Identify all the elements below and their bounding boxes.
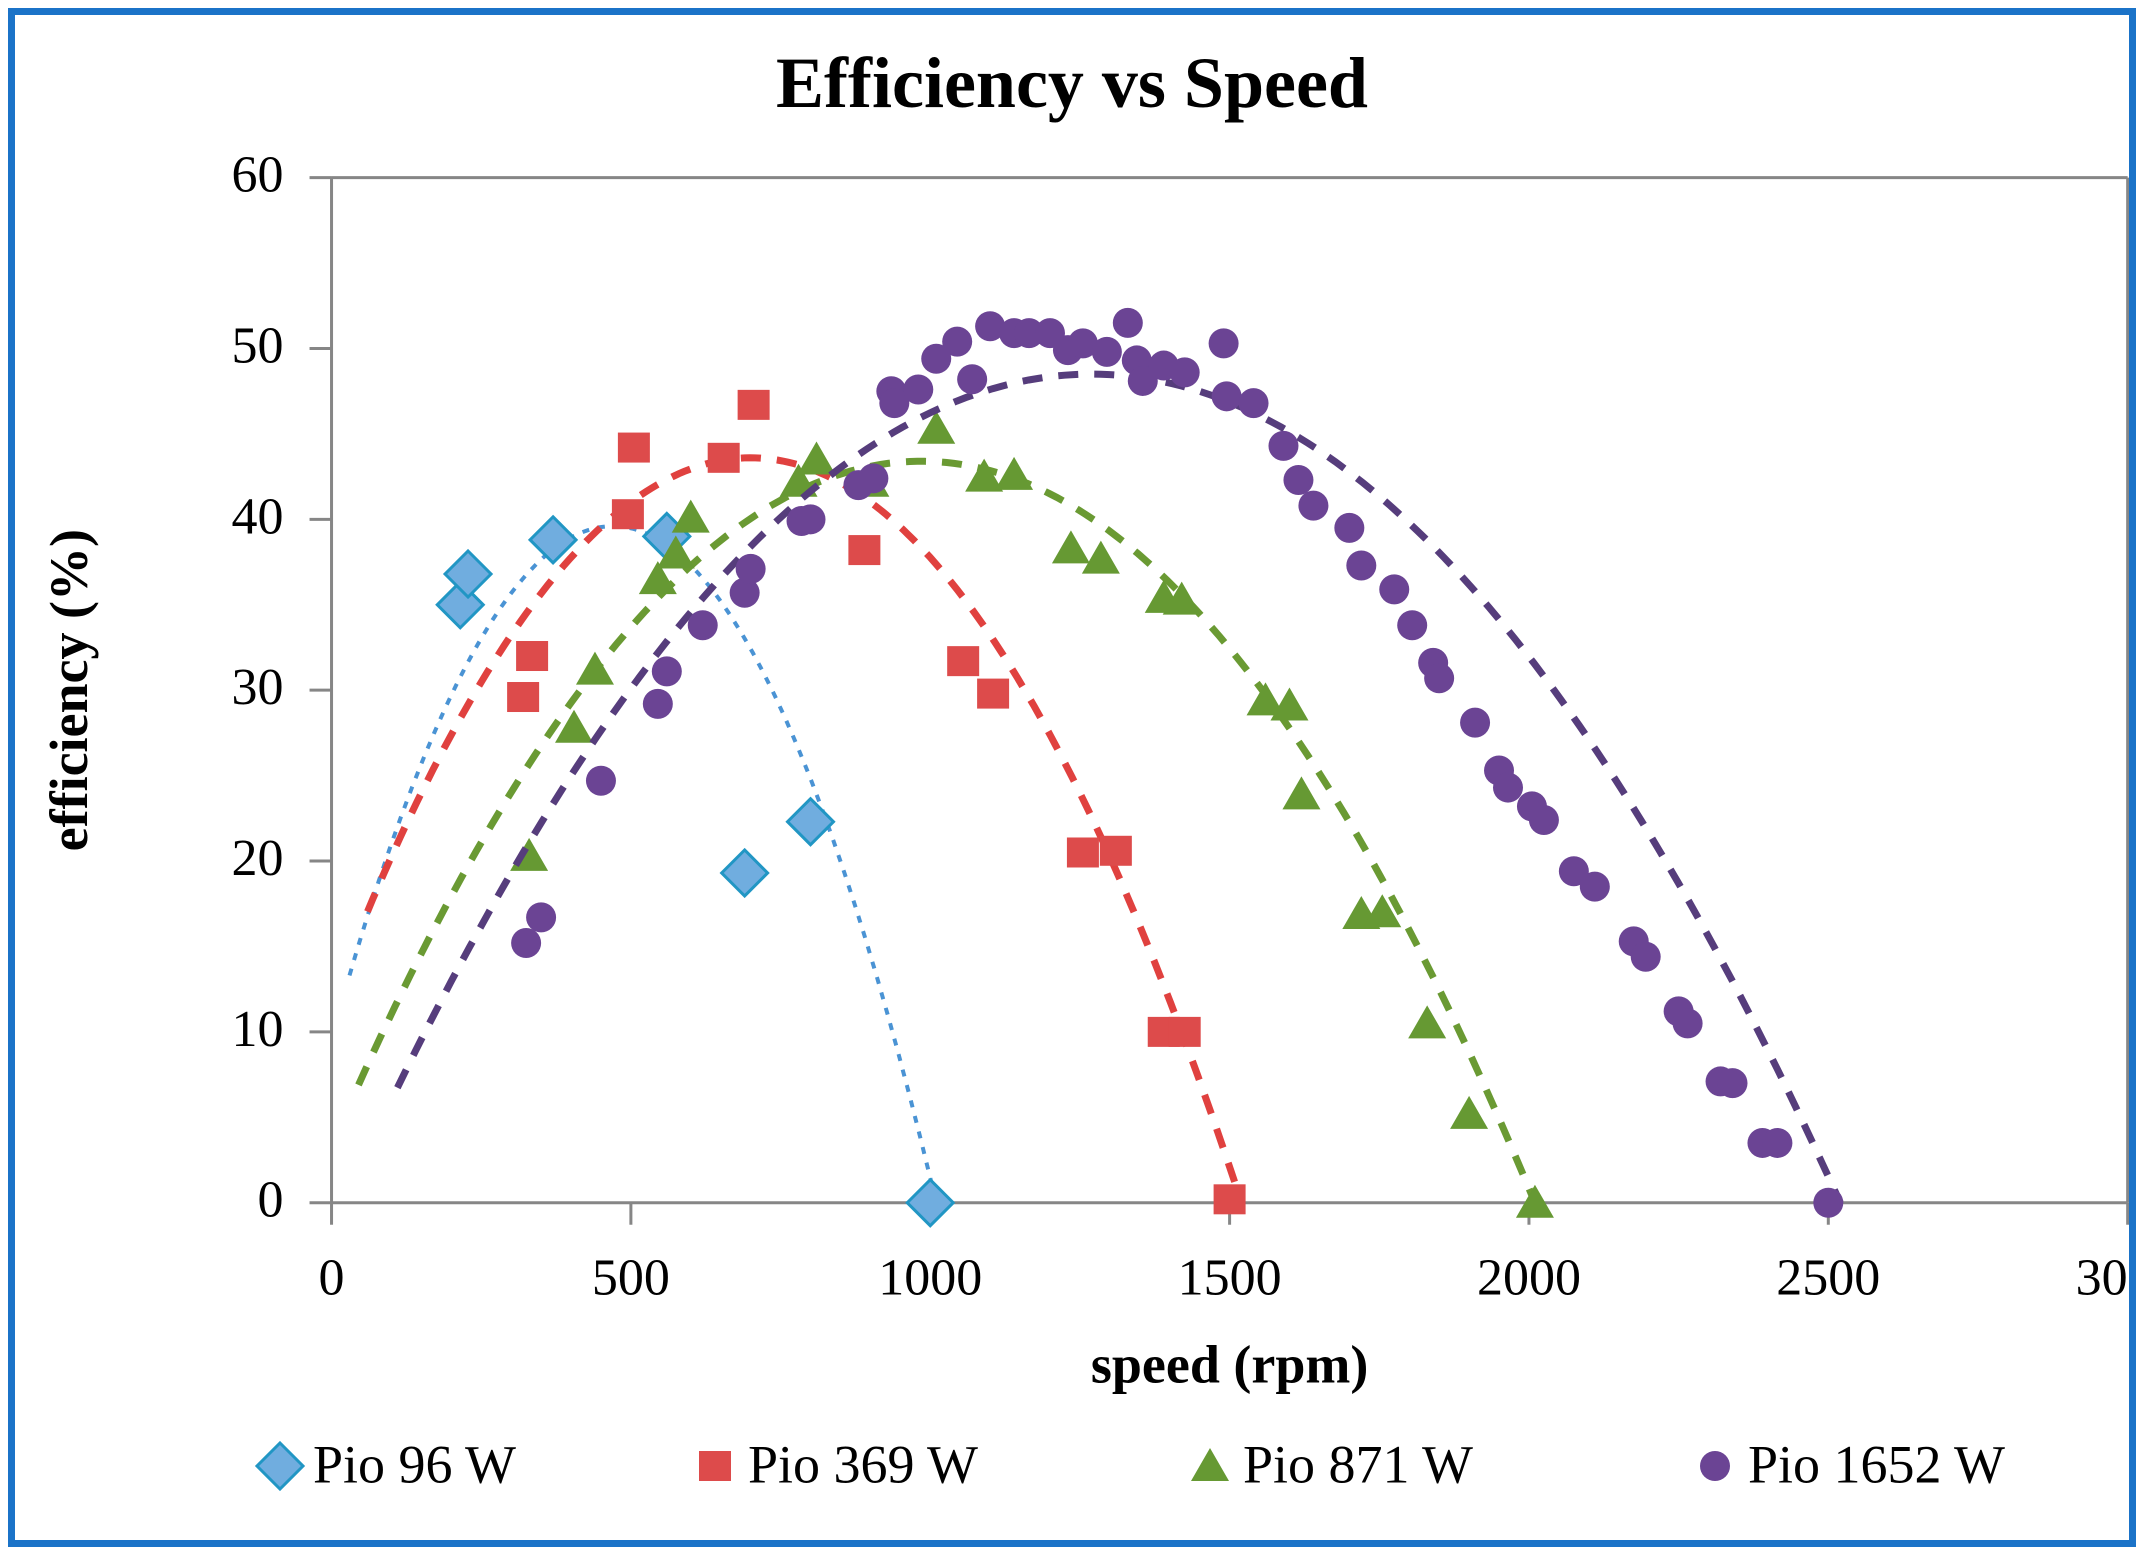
chart-title: Efficiency vs Speed	[776, 43, 1368, 123]
data-point-circle	[1397, 610, 1427, 640]
x-tick-label: 3000	[2076, 1250, 2129, 1307]
legend-label-0: Pio 96 W	[313, 1434, 516, 1494]
data-point-triangle	[1191, 1448, 1229, 1481]
data-point-circle	[1493, 773, 1523, 803]
data-point-diamond	[788, 799, 834, 845]
chart-canvas: Efficiency vs Speed010203040506005001000…	[15, 15, 2129, 1540]
data-point-circle	[858, 463, 888, 493]
data-point-triangle	[1052, 530, 1090, 563]
y-axis-ticks: 0102030405060	[232, 147, 332, 1229]
chart-svg: Efficiency vs Speed010203040506005001000…	[15, 15, 2129, 1540]
y-axis-title: efficiency (%)	[39, 529, 99, 851]
data-point-square	[738, 390, 770, 420]
data-point-triangle	[576, 652, 614, 685]
data-point-circle	[586, 766, 616, 796]
data-point-circle	[1113, 308, 1143, 338]
data-point-circle	[1346, 550, 1376, 580]
data-point-circle	[1268, 431, 1298, 461]
data-point-circle	[1334, 513, 1364, 543]
legend-item-3[interactable]: Pio 1652 W	[1700, 1434, 2005, 1494]
data-point-circle	[957, 364, 987, 394]
y-tick-label: 20	[232, 830, 284, 887]
y-tick-label: 0	[258, 1172, 284, 1229]
data-point-circle	[1762, 1128, 1792, 1158]
data-point-circle	[1673, 1008, 1703, 1038]
data-point-circle	[1529, 805, 1559, 835]
data-point-circle	[1631, 942, 1661, 972]
data-point-triangle	[1450, 1096, 1488, 1129]
legend-label-1: Pio 369 W	[748, 1434, 978, 1494]
x-tick-label: 0	[319, 1250, 345, 1307]
data-point-circle	[1580, 872, 1610, 902]
legend-label-3: Pio 1652 W	[1748, 1434, 2005, 1494]
data-point-circle	[1718, 1068, 1748, 1098]
data-point-circle	[796, 504, 826, 534]
data-point-triangle	[510, 838, 548, 871]
series-3	[397, 308, 1843, 1218]
data-point-triangle	[1282, 776, 1320, 809]
data-point-circle	[1239, 388, 1269, 418]
data-point-circle	[688, 610, 718, 640]
data-point-triangle	[1408, 1005, 1446, 1038]
legend-item-2[interactable]: Pio 871 W	[1191, 1434, 1473, 1494]
data-point-diamond	[257, 1443, 303, 1489]
data-point-circle	[1212, 381, 1242, 411]
x-tick-label: 2500	[1776, 1250, 1880, 1307]
data-point-square	[516, 641, 548, 671]
data-point-circle	[1283, 465, 1313, 495]
trendline-0	[350, 526, 937, 1202]
data-point-circle	[736, 554, 766, 584]
data-point-circle	[643, 689, 673, 719]
x-axis-ticks: 050010001500200025003000	[319, 1203, 2129, 1307]
x-tick-label: 500	[592, 1250, 670, 1307]
data-point-triangle	[1082, 541, 1120, 574]
data-point-square	[699, 1451, 731, 1481]
y-tick-label: 60	[232, 147, 284, 204]
y-tick-label: 10	[232, 1001, 284, 1058]
data-point-triangle	[672, 500, 710, 533]
legend-item-0[interactable]: Pio 96 W	[257, 1434, 516, 1494]
data-point-circle	[942, 327, 972, 357]
data-point-circle	[652, 656, 682, 686]
data-point-square	[947, 646, 979, 676]
y-tick-label: 30	[232, 659, 284, 716]
data-point-square	[618, 433, 650, 463]
legend-label-2: Pio 871 W	[1243, 1434, 1473, 1494]
data-point-square	[507, 682, 539, 712]
data-point-circle	[1209, 328, 1239, 358]
y-tick-label: 50	[232, 317, 284, 374]
data-point-square	[612, 499, 644, 529]
data-point-square	[1100, 836, 1132, 866]
data-point-triangle	[995, 457, 1033, 490]
x-tick-label: 2000	[1477, 1250, 1581, 1307]
data-point-circle	[1700, 1451, 1730, 1481]
data-point-circle	[1092, 337, 1122, 367]
legend-item-1[interactable]: Pio 369 W	[699, 1434, 978, 1494]
data-point-circle	[1460, 708, 1490, 738]
data-point-circle	[1379, 574, 1409, 604]
data-point-square	[1067, 837, 1099, 867]
figure-border: Efficiency vs Speed010203040506005001000…	[8, 8, 2136, 1547]
data-point-square	[1214, 1184, 1246, 1214]
x-axis-title: speed (rpm)	[1091, 1335, 1368, 1395]
data-point-triangle	[555, 710, 593, 743]
data-point-circle	[511, 928, 541, 958]
data-point-circle	[1170, 357, 1200, 387]
series-0	[350, 513, 954, 1225]
data-point-circle	[1298, 491, 1328, 521]
data-point-circle	[903, 374, 933, 404]
data-point-square	[1169, 1017, 1201, 1047]
data-point-diamond	[907, 1180, 953, 1226]
x-tick-label: 1500	[1178, 1250, 1282, 1307]
y-tick-label: 40	[232, 488, 284, 545]
data-point-circle	[526, 902, 556, 932]
data-point-circle	[1813, 1188, 1843, 1218]
data-point-triangle	[797, 442, 835, 475]
data-point-diamond	[722, 850, 768, 896]
x-tick-label: 1000	[878, 1250, 982, 1307]
data-point-square	[977, 679, 1009, 709]
data-point-circle	[1424, 663, 1454, 693]
data-point-square	[708, 443, 740, 473]
data-point-square	[848, 535, 880, 565]
